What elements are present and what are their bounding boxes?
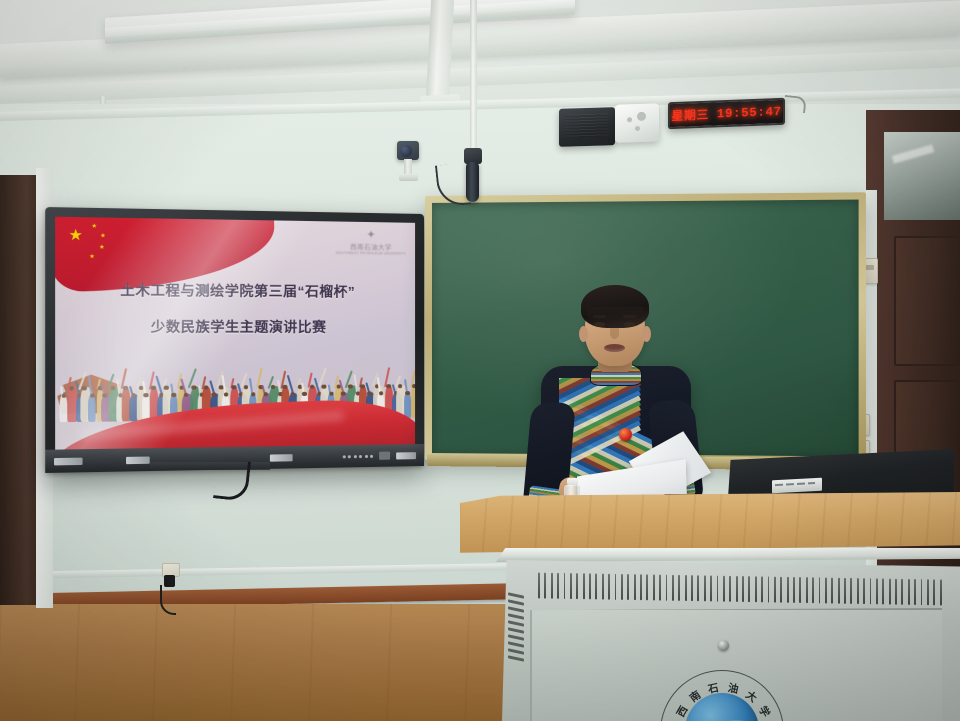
podium-vent-slot: [793, 577, 795, 603]
board-sticker-left: [54, 457, 83, 465]
podium-vent-slot: [761, 576, 763, 602]
crowd-figure-head: [263, 392, 268, 397]
podium-vent-slot: [927, 579, 929, 605]
smart-board-screen[interactable]: ★ ★ ★ ★ ★ ✦ 西南石油大学 SOUTHWEST PETROLEUM U…: [55, 217, 415, 450]
presenter-mouth: [604, 344, 625, 352]
crowd-figure-head: [360, 384, 365, 389]
clock-time: 19:55:47: [717, 104, 782, 120]
board-sticker-mid-left: [126, 456, 150, 464]
board-button-2[interactable]: [348, 455, 351, 458]
crowd-figure-head: [412, 384, 415, 389]
podium-vent-slot: [697, 575, 699, 601]
podium-vent-slot: [717, 576, 719, 602]
slide-title-block: 土木工程与测绘学院第三届“石榴杯” 少数民族学生主题演讲比赛: [55, 278, 415, 336]
podium-vent-slot: [768, 576, 770, 602]
right-door-upper-panel[interactable]: [894, 236, 960, 366]
university-logo-subtext: SOUTHWEST PETROLEUM UNIVERSITY: [336, 251, 407, 256]
podium-side-vent-slot: [508, 648, 524, 654]
ap-indicator-2: [627, 117, 632, 122]
podium-vent-slot: [704, 575, 706, 601]
podium-vent-slot: [780, 577, 782, 603]
podium-side-vent-slot: [508, 634, 524, 640]
crowd-figure-head: [164, 385, 169, 390]
crowd-figure-head: [367, 391, 372, 396]
podium-vent-slot: [551, 573, 553, 599]
camera-lens-icon: [400, 145, 412, 157]
presenter-brow-left: [593, 315, 606, 318]
presenter-brow-right: [623, 315, 636, 318]
crowd-figure-head: [302, 391, 307, 396]
red-badge-icon: [619, 428, 632, 441]
podium-vent-slot: [876, 578, 878, 604]
podium-vent-slot: [634, 574, 636, 600]
crowd-figure-head: [348, 384, 353, 389]
podium-desktop[interactable]: [460, 492, 960, 554]
podium-vent-slot: [678, 575, 680, 601]
flag-star-small-1: ★: [91, 224, 97, 230]
crowd-figure-head: [131, 393, 136, 398]
podium-vent-slot: [602, 574, 604, 600]
podium-side-vent-slot: [508, 620, 524, 626]
interactive-smart-board[interactable]: ★ ★ ★ ★ ★ ✦ 西南石油大学 SOUTHWEST PETROLEUM U…: [45, 207, 424, 473]
cabinet-lock-icon[interactable]: [718, 640, 729, 651]
podium-side-vent-slot: [508, 606, 524, 612]
microphone-pole: [470, 0, 477, 152]
crowd-figure-head: [82, 386, 87, 391]
slide-photo-band: [55, 348, 415, 450]
podium-vent-slot: [812, 577, 814, 603]
flag-star-large: ★: [68, 227, 83, 243]
podium-vent-slot: [723, 576, 725, 602]
podium-vent-slot: [819, 577, 821, 603]
podium-vent-slot: [755, 576, 757, 602]
crowd-figure-head: [61, 393, 66, 398]
podium-vent-slot: [627, 574, 629, 600]
lecture-podium[interactable]: 西南石油大学: [460, 492, 960, 721]
podium-vent-slot: [691, 575, 693, 601]
podium-vent-slot: [921, 579, 923, 605]
podium-vent-slot: [933, 579, 935, 605]
podium-vent-slot: [557, 573, 559, 599]
slide-title-line-2: 少数民族学生主题演讲比赛: [55, 315, 415, 336]
podium-vent-slot: [806, 577, 808, 603]
wall-speaker-icon: [559, 107, 615, 147]
podium-vent-slot: [838, 578, 840, 604]
podium-side-vent-slot: [508, 627, 524, 633]
crowd-figure-head: [329, 391, 334, 396]
crowd-figure-head: [171, 392, 176, 397]
podium-vent-slot: [831, 578, 833, 604]
camera-wall-base: [399, 174, 418, 181]
podium-vent-slot: [870, 578, 872, 604]
podium-side-vent-slot: [508, 641, 524, 647]
wireless-access-point-icon: [615, 103, 659, 142]
podium-vent-slot: [595, 573, 597, 599]
smart-board-bezel: ★ ★ ★ ★ ★ ✦ 西南石油大学 SOUTHWEST PETROLEUM U…: [45, 207, 424, 473]
podium-vent-slot: [583, 573, 585, 599]
podium-vent-slot: [576, 573, 578, 599]
crowd-figure-head: [405, 391, 409, 396]
crowd-figure-head: [123, 385, 128, 390]
emblem-character: 油: [726, 680, 739, 697]
podium-side-vent-slot: [508, 613, 524, 619]
flag-star-small-3: ★: [99, 245, 105, 251]
presenter-hair: [581, 285, 649, 328]
podium-vent-slot: [742, 576, 744, 602]
crowd-figure-head: [386, 384, 391, 389]
board-button-1[interactable]: [342, 455, 345, 458]
podium-vent-slot: [608, 574, 610, 600]
podium-vent-slot: [908, 579, 910, 605]
crowd-figure-head: [341, 391, 346, 396]
podium-vent-slot: [863, 578, 865, 604]
ap-indicator-3: [635, 126, 640, 131]
presenter-ear-left: [579, 326, 588, 342]
crowd-figure-head: [103, 393, 108, 398]
board-sticker-center: [270, 454, 293, 462]
presenter-eye-left: [594, 322, 605, 327]
crowd-figure-head: [322, 384, 327, 389]
crowd-figure-head: [283, 384, 288, 389]
door-transom-window: [884, 132, 960, 220]
podium-vent-slot: [857, 578, 859, 604]
crowd-figure-head: [151, 385, 156, 390]
monitor-asset-label: [772, 478, 822, 494]
podium-side-vent-slot: [508, 599, 524, 605]
podium-vent-slot: [736, 576, 738, 602]
crowd-figure-head: [143, 393, 148, 398]
ap-indicator-1: [637, 112, 646, 121]
board-button-5[interactable]: [364, 454, 367, 457]
podium-vent-slot: [825, 577, 827, 603]
presenter-eye-right: [624, 322, 635, 327]
crowd-figure: [88, 394, 96, 421]
podium-vent-slot: [621, 574, 623, 600]
podium-vent-slot: [646, 574, 648, 600]
left-doorway-opening[interactable]: [0, 175, 38, 605]
podium-vent-slot: [729, 576, 731, 602]
flag-star-small-2: ★: [100, 233, 106, 239]
podium-vent-slot: [672, 575, 674, 601]
clock-weekday: 星期三: [671, 106, 709, 124]
crowd-figure: [60, 395, 68, 422]
podium-side-vent-slot: [508, 655, 524, 661]
podium-edge-lip: [496, 548, 960, 562]
podium-vent-slot: [748, 576, 750, 602]
podium-vent-slot: [589, 573, 591, 599]
podium-vent-slot: [710, 575, 712, 601]
podium-vent-slot: [914, 579, 916, 605]
podium-vent-slot: [844, 578, 846, 604]
podium-vent-slot: [799, 577, 801, 603]
university-logo-on-slide: ✦ 西南石油大学 SOUTHWEST PETROLEUM UNIVERSITY: [336, 228, 407, 256]
crowd-figure-head: [110, 385, 115, 390]
crowd-figure-head: [191, 385, 196, 390]
bottle-cap: [567, 478, 578, 485]
crowd-figure-head: [231, 385, 236, 390]
presenter-ear-right: [642, 326, 651, 342]
podium-vent-slot: [850, 578, 852, 604]
crowd-figure-head: [243, 385, 248, 390]
podium-vent-slot: [889, 579, 891, 605]
podium-vent-slot: [787, 577, 789, 603]
podium-vent-slot: [940, 579, 942, 605]
podium-vent-slot: [640, 574, 642, 600]
board-sticker-right: [396, 452, 416, 459]
emblem-character: 学: [755, 703, 773, 720]
podium-vent-slot: [570, 573, 572, 599]
crowd-figure-head: [211, 392, 216, 397]
flag-star-small-4: ★: [89, 254, 95, 260]
podium-vent-slot: [564, 573, 566, 599]
podium-vent-slot: [901, 579, 903, 605]
classroom-photo-scene: ★ ★ ★ ★ ★ ✦ 西南石油大学 SOUTHWEST PETROLEUM U…: [0, 0, 960, 721]
led-clock-display: 星期三 19:55:47: [668, 98, 785, 129]
board-ir-receiver-icon: [379, 452, 390, 460]
podium-vent-slot: [615, 574, 617, 600]
podium-vent-slot: [544, 573, 546, 599]
crowd-figure-head: [310, 384, 315, 389]
emblem-character: 石: [707, 680, 720, 697]
board-button-4[interactable]: [359, 455, 362, 458]
podium-vent-slot: [882, 578, 884, 604]
presenter-nose: [610, 328, 619, 339]
podium-vent-slot: [659, 575, 661, 601]
slide-title-line-1: 土木工程与测绘学院第三届“石榴杯”: [55, 278, 415, 301]
university-logo-mark-icon: ✦: [336, 228, 407, 242]
podium-vent-slot: [666, 575, 668, 601]
podium-vent-slot: [895, 579, 897, 605]
podium-vent-slot: [538, 572, 540, 598]
board-button-row[interactable]: [342, 454, 373, 458]
board-button-3[interactable]: [353, 455, 356, 458]
podium-side-vent-grille: [508, 592, 524, 665]
podium-vent-slot: [653, 574, 655, 600]
smart-board-wall-mount: [150, 462, 270, 470]
podium-vent-slot: [685, 575, 687, 601]
crowd-figure: [411, 385, 415, 418]
podium-vent-slot: [774, 577, 776, 603]
board-button-6[interactable]: [370, 454, 373, 457]
